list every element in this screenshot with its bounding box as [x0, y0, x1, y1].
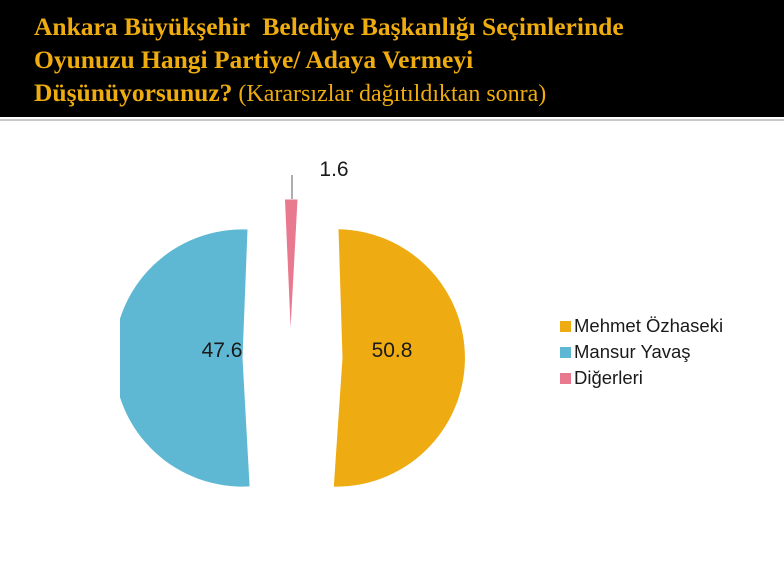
legend-label-digerleri: Diğerleri	[574, 368, 643, 388]
pie-chart: 50.8 47.6 1.6 Mehmet Özhaseki Mansur Yav…	[0, 123, 784, 584]
legend-swatch-icon-digerleri	[560, 373, 571, 384]
title-line-1: Ankara Büyükşehir Belediye Başkanlığı Se…	[34, 10, 784, 43]
legend-item-mansur-yavas[interactable]: Mansur Yavaş	[560, 339, 775, 365]
title-line-3-note: (Kararsızlar dağıtıldıktan sonra)	[232, 81, 546, 107]
legend-label-mansur-yavas: Mansur Yavaş	[574, 342, 691, 362]
data-label-digerleri: 1.6	[319, 158, 348, 182]
data-label-mehmet-ozhaseki: 50.8	[372, 339, 413, 363]
pie-chart-svg	[120, 143, 520, 563]
chart-legend: Mehmet Özhaseki Mansur Yavaş Diğerleri	[560, 313, 775, 391]
legend-swatch-icon-mehmet-ozhaseki	[560, 321, 571, 332]
data-label-mansur-yavas: 47.6	[202, 339, 243, 363]
legend-item-mehmet-ozhaseki[interactable]: Mehmet Özhaseki	[560, 313, 775, 339]
title-divider	[0, 119, 784, 121]
legend-item-digerleri[interactable]: Diğerleri	[560, 365, 775, 391]
title-line-3: Düşünüyorsunuz? (Kararsızlar dağıtıldıkt…	[34, 76, 784, 111]
pie-slice-digerleri[interactable]	[285, 200, 298, 328]
title-line-3-bold: Düşünüyorsunuz?	[34, 78, 232, 107]
legend-swatch-icon-mansur-yavas	[560, 347, 571, 358]
title-line-2: Oyunuzu Hangi Partiye/ Adaya Vermeyi	[34, 43, 784, 76]
title-banner: Ankara Büyükşehir Belediye Başkanlığı Se…	[0, 0, 784, 117]
legend-label-mehmet-ozhaseki: Mehmet Özhaseki	[574, 316, 723, 336]
